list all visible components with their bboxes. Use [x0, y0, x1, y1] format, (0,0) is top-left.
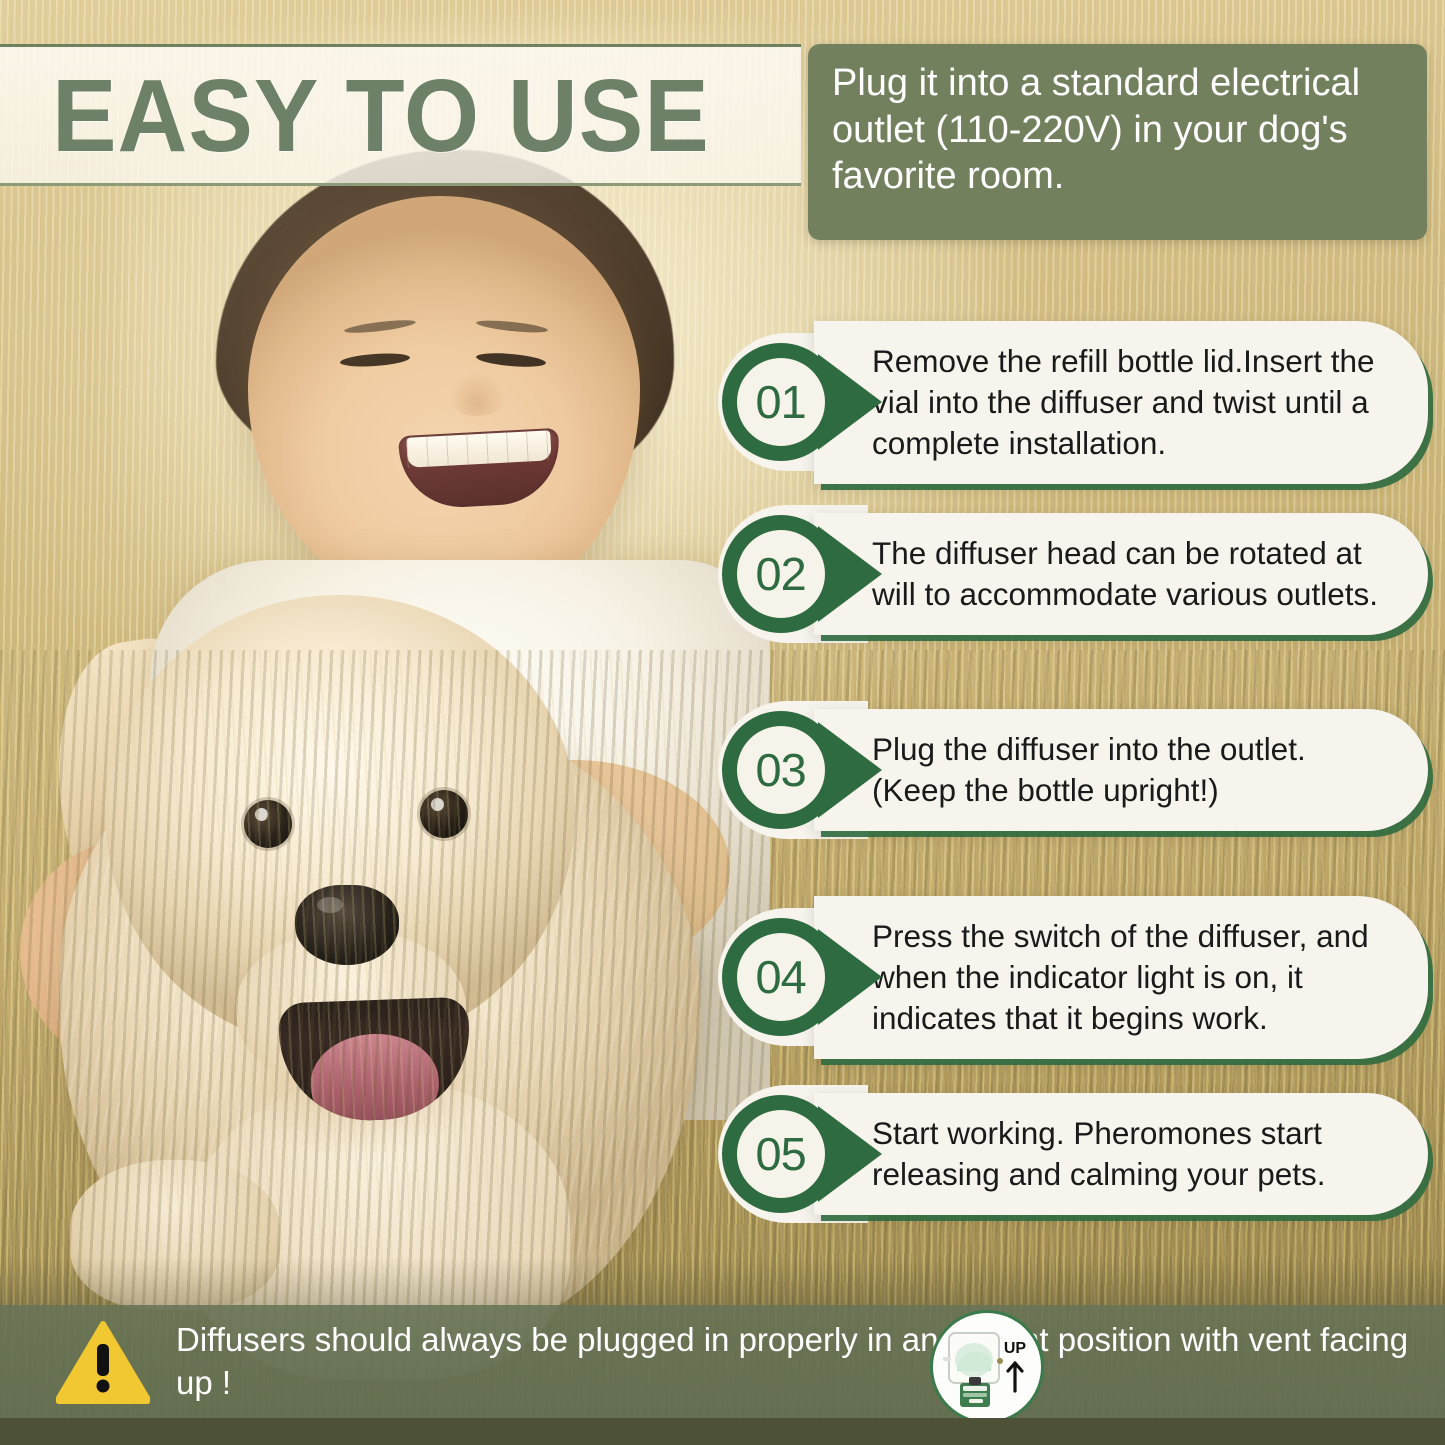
step-text: Press the switch of the diffuser, and wh…	[872, 916, 1394, 1039]
up-label: UP	[1004, 1340, 1027, 1357]
step-badge-05: 05	[722, 1095, 840, 1213]
step-badge-02: 02	[722, 515, 840, 633]
step-number: 04	[756, 950, 806, 1004]
step-text: Plug the diffuser into the outlet. (Keep…	[872, 729, 1394, 811]
diffuser-upright-icon: UP	[930, 1310, 1044, 1424]
step-item-05[interactable]: 05 Start working. Pheromones start relea…	[722, 1093, 1428, 1215]
step-item-01[interactable]: 01 Remove the refill bottle lid.Insert t…	[722, 321, 1428, 484]
warning-bar: Diffusers should always be plugged in pr…	[0, 1305, 1445, 1418]
up-arrow-icon	[1008, 1363, 1022, 1391]
title-banner: EASY TO USE	[0, 44, 801, 186]
warning-triangle-icon	[56, 1320, 150, 1404]
step-badge-inner: 02	[737, 530, 825, 618]
step-badge-03: 03	[722, 711, 840, 829]
step-text: The diffuser head can be rotated at will…	[872, 533, 1394, 615]
step-item-04[interactable]: 04 Press the switch of the diffuser, and…	[722, 896, 1428, 1059]
step-text: Start working. Pheromones start releasin…	[872, 1113, 1394, 1195]
warning-text: Diffusers should always be plugged in pr…	[176, 1319, 1445, 1405]
page-title: EASY TO USE	[52, 64, 710, 167]
bottom-strip	[0, 1418, 1445, 1445]
step-badge-04: 04	[722, 918, 840, 1036]
step-text-pill: Start working. Pheromones start releasin…	[814, 1093, 1428, 1215]
header-callout-text: Plug it into a standard electrical outle…	[832, 60, 1405, 200]
step-number: 01	[756, 375, 806, 429]
step-badge-inner: 05	[737, 1110, 825, 1198]
step-number: 02	[756, 547, 806, 601]
step-text-pill: The diffuser head can be rotated at will…	[814, 513, 1428, 635]
step-text-pill: Press the switch of the diffuser, and wh…	[814, 896, 1428, 1059]
step-text: Remove the refill bottle lid.Insert the …	[872, 341, 1394, 464]
step-item-03[interactable]: 03 Plug the diffuser into the outlet. (K…	[722, 709, 1428, 831]
step-badge-01: 01	[722, 343, 840, 461]
step-badge-inner: 01	[737, 358, 825, 446]
step-item-02[interactable]: 02 The diffuser head can be rotated at w…	[722, 513, 1428, 635]
step-text-pill: Remove the refill bottle lid.Insert the …	[814, 321, 1428, 484]
step-badge-inner: 04	[737, 933, 825, 1021]
step-number: 05	[756, 1127, 806, 1181]
header-callout-box: Plug it into a standard electrical outle…	[808, 44, 1427, 240]
step-text-pill: Plug the diffuser into the outlet. (Keep…	[814, 709, 1428, 831]
step-number: 03	[756, 743, 806, 797]
step-badge-inner: 03	[737, 726, 825, 814]
